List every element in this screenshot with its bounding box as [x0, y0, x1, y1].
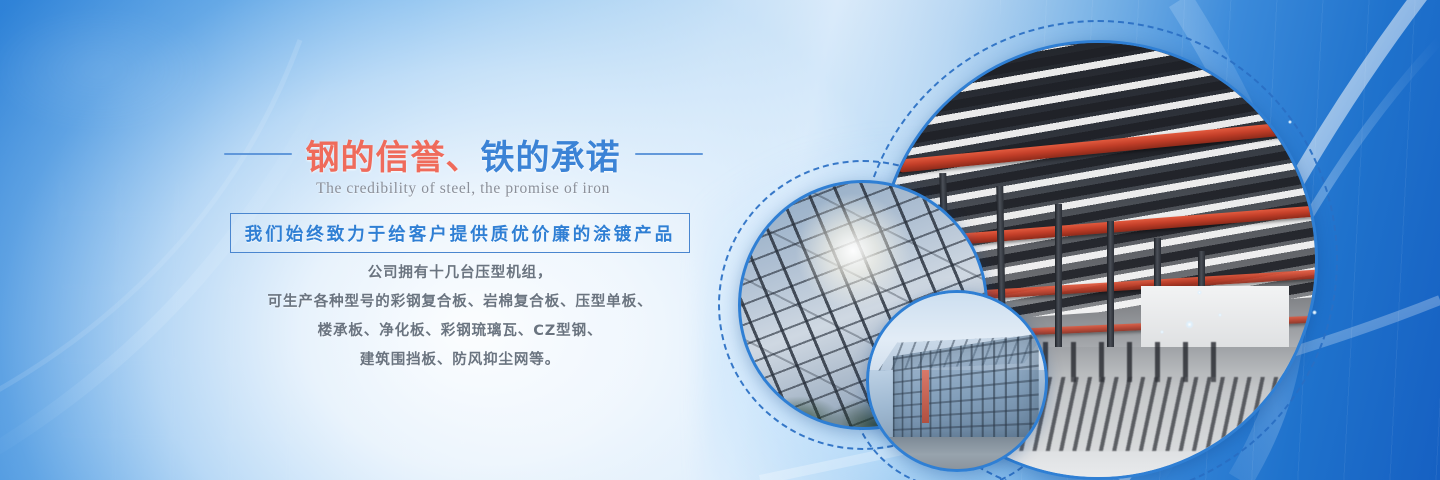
sparkle-dot — [1218, 313, 1222, 317]
chimney-stack — [922, 370, 929, 423]
sparkle-dot — [1185, 320, 1194, 329]
sparkle-dot — [1288, 120, 1292, 124]
headline-rule-left — [224, 153, 292, 155]
description-line: 可生产各种型号的彩钢复合板、岩棉复合板、压型单板、 — [230, 291, 690, 313]
promo-banner: 钢的信誉、铁的承诺 The credibility of steel, the … — [0, 0, 1440, 480]
sparkle-dot — [1197, 290, 1202, 295]
headline-rule-right — [635, 153, 703, 155]
sparkle-dot — [1312, 310, 1317, 315]
headline-blue-part: 铁的承诺 — [481, 138, 621, 178]
description-line: 公司拥有十几台压型机组， — [230, 262, 690, 284]
headline-row: 钢的信誉、铁的承诺 — [228, 131, 698, 177]
description-line: 建筑围挡板、防风抑尘网等。 — [230, 349, 690, 371]
ground — [869, 437, 1045, 469]
slogan-box: 我们始终致力于给客户提供质优价廉的涂镀产品 — [230, 213, 690, 253]
headline-subtitle: The credibility of steel, the promise of… — [228, 180, 698, 198]
dust-net-scene — [869, 293, 1045, 469]
headline-red-part: 钢的信誉、 — [306, 138, 481, 178]
banner-copy: 钢的信誉、铁的承诺 The credibility of steel, the … — [0, 0, 720, 480]
description-line: 楼承板、净化板、彩钢琉璃瓦、CZ型钢、 — [230, 320, 690, 342]
slogan-text: 我们始终致力于给客户提供质优价廉的涂镀产品 — [245, 221, 676, 246]
photo-cluster — [700, 0, 1440, 480]
description-block: 公司拥有十几台压型机组， 可生产各种型号的彩钢复合板、岩棉复合板、压型单板、 楼… — [230, 262, 690, 378]
sparkle-dot — [1160, 330, 1164, 334]
page-title: 钢的信誉、铁的承诺 — [306, 130, 621, 179]
photo-dust-net[interactable] — [866, 290, 1048, 472]
